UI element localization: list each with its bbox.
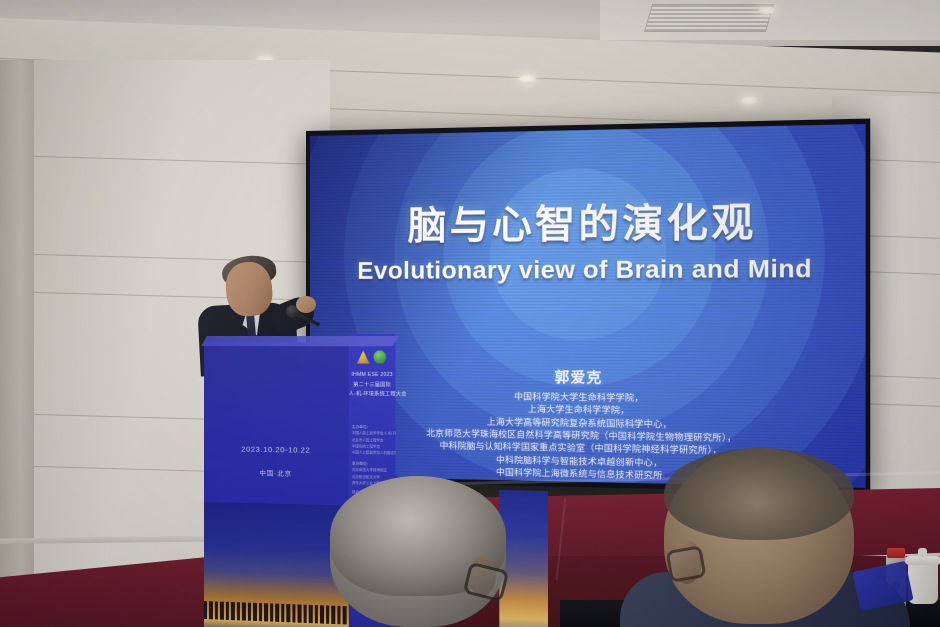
organizer-logo-icon (357, 350, 369, 363)
cup-knob (918, 548, 927, 558)
podium-top-surface (201, 336, 398, 346)
speaker-hand (296, 296, 316, 313)
podium-date: 2023.10.20-10.22 (204, 444, 349, 455)
conference-line: 人-机-环境系统工程大会 (349, 390, 396, 400)
downlight-icon (740, 96, 758, 105)
podium-front-artwork (204, 502, 349, 627)
downlight-icon (518, 74, 536, 83)
block-line: 中国人工智能学会人机融合智能专业委员会（筹） (352, 450, 396, 457)
podium-side-artwork (499, 490, 548, 627)
slide-title-en: Evolutionary view of Brain and Mind (310, 255, 866, 286)
organizer-logo-icon (374, 350, 386, 363)
slide-title-cn: 脑与心智的演化观 (310, 188, 866, 251)
glasses-icon (665, 545, 706, 583)
audience-right-hair (664, 448, 854, 540)
podium-location: 中国·北京 (204, 466, 349, 479)
downlight-icon (758, 6, 776, 15)
conference-line: IHMM ESE 2023 (349, 371, 396, 381)
bottle-cap (887, 548, 905, 558)
skyline-silhouette (204, 601, 349, 625)
podium-organizer-block: 主办单位： 中国人类工效学学会人-机-环境系统工程专业委员会 北京市人因工程学会… (352, 424, 396, 457)
conference-line: 第二十三届国际 (349, 380, 396, 390)
conference-photo-scene: 脑与心智的演化观 Evolutionary view of Brain and … (0, 0, 940, 627)
air-vent-icon (644, 4, 774, 32)
podium-logos (357, 350, 388, 364)
podium-conference-title: IHMM ESE 2023 第二十三届国际 人-机-环境系统工程大会 (349, 371, 396, 400)
podium-front-panel: 2023.10.20-10.22 中国·北京 (204, 342, 349, 627)
